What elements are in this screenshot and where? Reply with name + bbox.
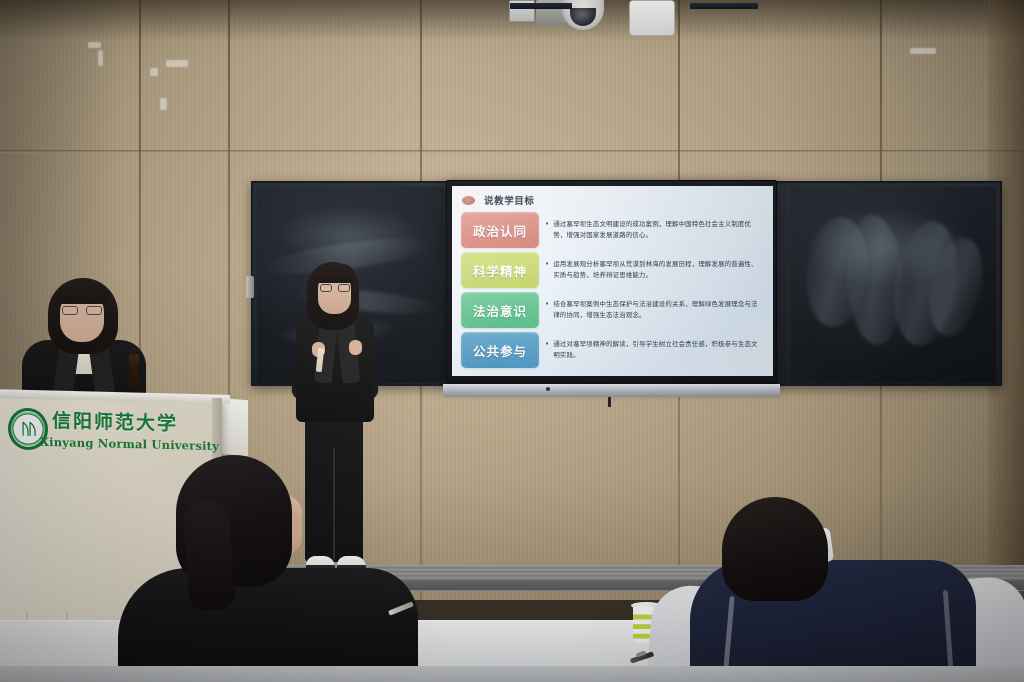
slide-rows: 政治认同 • 通过塞罕坝生态文明建设的成功案例，理解中国特色社会主义制度优势，增… xyxy=(461,212,766,372)
display-control-panel[interactable] xyxy=(510,3,572,9)
water-bottle xyxy=(129,354,139,390)
slide-row-description: • 运用发展观分析塞罕坝从荒漠到林海的发展历程，理解发展的普遍性、实质与趋势，培… xyxy=(539,252,766,288)
interactive-flat-panel[interactable]: 说教学目标 政治认同 • 通过塞罕坝生态文明建设的成功案例，理解中国特色社会主义… xyxy=(446,180,777,384)
student-left-ponytail xyxy=(182,499,236,612)
slide-row: 公共参与 • 通过对塞罕坝精神的解读，引导学生树立社会责任感，积极参与生态文明实… xyxy=(461,332,766,368)
slide-row: 政治认同 • 通过塞罕坝生态文明建设的成功案例，理解中国特色社会主义制度优势，增… xyxy=(461,212,766,248)
logo-figures: ᚢᚢ xyxy=(21,421,35,436)
slide-row-description: • 通过对塞罕坝精神的解读，引导学生树立社会责任感，积极参与生态文明实践。 xyxy=(539,332,766,368)
wall-mark xyxy=(98,50,103,66)
student-left-jacket xyxy=(118,568,418,682)
bullet-mark: • xyxy=(545,298,549,310)
slide-row-text: 结合塞罕坝案例中生态保护与法治建设的关系，理解绿色发展理念与法律的协同，增强生态… xyxy=(553,299,762,321)
wall-horizontal-joint xyxy=(0,150,1024,153)
presenter-hand xyxy=(349,340,362,355)
wall-mark xyxy=(150,68,158,76)
slide-bullet-icon xyxy=(462,196,475,205)
bullet-mark: • xyxy=(545,218,549,230)
slide-row: 科学精神 • 运用发展观分析塞罕坝从荒漠到林海的发展历程，理解发展的普遍性、实质… xyxy=(461,252,766,288)
slide-row-description: • 结合塞罕坝案例中生态保护与法治建设的关系，理解绿色发展理念与法律的协同，增强… xyxy=(539,292,766,328)
student-right-hair xyxy=(722,497,828,601)
slide-row-text: 通过塞罕坝生态文明建设的成功案例，理解中国特色社会主义制度优势，增强对国家发展道… xyxy=(553,219,762,241)
display-port-panel[interactable] xyxy=(690,3,758,9)
seated-person-fringe xyxy=(56,282,108,304)
display-stand xyxy=(608,397,611,407)
eyeglasses-icon xyxy=(320,284,350,292)
slide-row: 法治意识 • 结合塞罕坝案例中生态保护与法治建设的关系，理解绿色发展理念与法律的… xyxy=(461,292,766,328)
slide-title: 说教学目标 xyxy=(484,193,535,207)
slide-chip-label: 法治意识 xyxy=(461,292,539,328)
slide-row-text: 通过对塞罕坝精神的解读，引导学生树立社会责任感，积极参与生态文明实践。 xyxy=(553,339,762,361)
slide-chip-label: 科学精神 xyxy=(461,252,539,288)
slide-chip-label: 公共参与 xyxy=(461,332,539,368)
bullet-mark: • xyxy=(545,338,549,350)
bullet-mark: • xyxy=(545,258,549,270)
wall-mark xyxy=(160,98,167,110)
wall-speaker-icon xyxy=(629,0,675,36)
eyeglasses-icon xyxy=(62,306,102,315)
slide-header: 说教学目标 xyxy=(462,193,535,207)
wall-mark xyxy=(88,42,101,48)
presenter-fringe xyxy=(313,264,355,283)
display-bottom-bezel xyxy=(443,384,780,397)
university-name-cn: 信阳师范大学 xyxy=(52,406,212,437)
wall-mark xyxy=(166,60,188,67)
chalkboard-right-panel xyxy=(791,187,996,383)
classroom-photo: 说教学目标 政治认同 • 通过塞罕坝生态文明建设的成功案例，理解中国特色社会主义… xyxy=(0,0,1024,682)
wall-mark xyxy=(910,48,936,54)
chalk-tray-hook xyxy=(246,276,254,298)
desk-front-panel xyxy=(0,666,1024,682)
slide-row-description: • 通过塞罕坝生态文明建设的成功案例，理解中国特色社会主义制度优势，增强对国家发… xyxy=(539,212,766,248)
display-power-indicator xyxy=(546,387,550,391)
trouser-seam xyxy=(333,448,335,560)
presentation-slide: 说教学目标 政治认同 • 通过塞罕坝生态文明建设的成功案例，理解中国特色社会主义… xyxy=(452,186,773,376)
slide-row-text: 运用发展观分析塞罕坝从荒漠到林海的发展历程，理解发展的普遍性、实质与趋势，培养辩… xyxy=(553,259,762,281)
slide-chip-label: 政治认同 xyxy=(461,212,539,248)
